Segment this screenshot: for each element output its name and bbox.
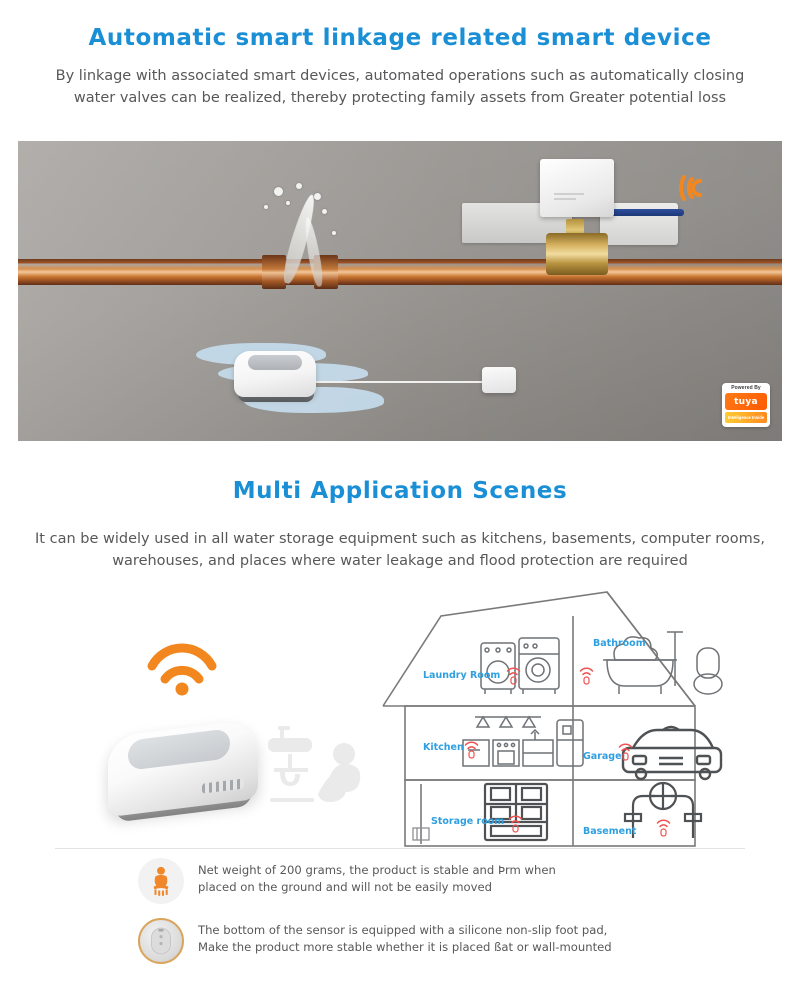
- feature-item: Net weight of 200 grams, the product is …: [138, 858, 738, 904]
- wifi-sensor-icon: [617, 740, 634, 761]
- scenes-title: Multi Application Scenes: [0, 478, 800, 504]
- badge-tagline: Intelligence Inside: [725, 412, 767, 423]
- divider: [55, 848, 745, 849]
- water-droplet: [286, 201, 290, 205]
- hero-subtitle-line-2: water valves can be realized, thereby pr…: [0, 87, 800, 109]
- room-label-garage: Garage: [583, 751, 622, 762]
- water-probe-icon: [482, 367, 516, 393]
- room-label-laundry-room: Laundry Room: [423, 670, 500, 681]
- water-droplet: [264, 205, 268, 209]
- silicone-foot-pad-icon: [138, 918, 184, 964]
- wifi-sensor-icon: [507, 812, 524, 833]
- wifi-sensor-icon: [655, 816, 672, 837]
- water-droplet: [332, 231, 336, 235]
- plumber-fixing-sink-icon: [260, 720, 370, 820]
- tuya-logo: tuya: [725, 393, 767, 410]
- water-droplet: [322, 209, 327, 214]
- wifi-icon: [142, 640, 222, 696]
- feature-text: The bottom of the sensor is equipped wit…: [198, 918, 612, 956]
- valve-controller-box: [540, 159, 614, 217]
- kitchen-icons: [463, 717, 583, 766]
- wifi-sensor-icon: [463, 738, 480, 759]
- scenes-subtitle-line-1: It can be widely used in all water stora…: [0, 528, 800, 550]
- water-leak-sensor-icon: [196, 337, 526, 417]
- water-droplet: [296, 183, 302, 189]
- car-icon: [623, 727, 721, 779]
- banner-image: Powered By tuya Intelligence Inside: [18, 141, 782, 441]
- feature-item: The bottom of the sensor is equipped wit…: [138, 918, 738, 964]
- scenes-subtitle-line-2: warehouses, and places where water leaka…: [0, 550, 800, 572]
- water-spray-icon: [256, 183, 376, 283]
- wifi-sensor-icon: [505, 664, 522, 685]
- water-droplet: [274, 187, 283, 196]
- feature-text-line-2: Make the product more stable whether it …: [198, 939, 612, 956]
- product-render-group: [80, 640, 370, 840]
- feature-text-line-1: The bottom of the sensor is equipped wit…: [198, 922, 612, 939]
- product-marketing-page: Automatic smart linkage related smart de…: [0, 0, 800, 989]
- page-title: Automatic smart linkage related smart de…: [0, 25, 800, 51]
- controller-brand-line: [554, 198, 576, 200]
- spray-stream: [302, 217, 325, 288]
- wifi-icon: [678, 165, 724, 211]
- feature-text-line-1: Net weight of 200 grams, the product is …: [198, 862, 556, 879]
- feature-text-line-2: placed on the ground and will not be eas…: [198, 879, 556, 896]
- controller-brand-line: [554, 193, 584, 195]
- feature-text: Net weight of 200 grams, the product is …: [198, 858, 556, 896]
- device-vent: [202, 779, 244, 794]
- brass-ball-valve: [546, 233, 608, 275]
- smart-valve-icon: [448, 159, 748, 299]
- room-label-storage-room: Storage room: [431, 816, 504, 827]
- tuya-powered-badge: Powered By tuya Intelligence Inside: [722, 383, 770, 427]
- wifi-sensor-icon: [578, 664, 595, 685]
- room-label-basement: Basement: [583, 826, 636, 837]
- sensor-top-panel: [248, 355, 302, 370]
- scenes-subtitle: It can be widely used in all water stora…: [0, 528, 800, 573]
- stability-figure-icon: [138, 858, 184, 904]
- room-label-bathroom: Bathroom: [593, 638, 646, 649]
- house-cutaway-diagram: Laundry Room Bathroom Kitchen Garage Sto…: [375, 588, 775, 850]
- hero-subtitle: By linkage with associated smart devices…: [0, 65, 800, 110]
- device-lid: [128, 728, 230, 771]
- water-droplet: [314, 193, 321, 200]
- badge-powered-by-label: Powered By: [731, 386, 761, 391]
- hero-subtitle-line-1: By linkage with associated smart devices…: [0, 65, 800, 87]
- sensor-probe-cable: [314, 381, 486, 383]
- room-label-kitchen: Kitchen: [423, 742, 464, 753]
